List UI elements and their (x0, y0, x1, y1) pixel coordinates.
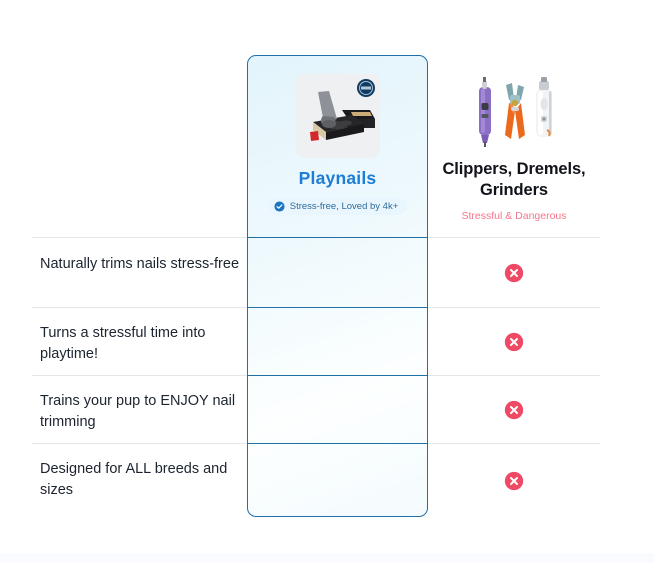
cell-competitors (428, 444, 600, 518)
red-x-circle-icon (504, 263, 524, 283)
playnails-title: Playnails (299, 168, 377, 189)
card-row-divider (247, 307, 428, 308)
feature-label: Trains your pup to ENJOY nail trimming (40, 391, 240, 433)
cell-competitors (428, 238, 600, 308)
card-row-divider (247, 443, 428, 444)
cell-competitors (428, 376, 600, 444)
playnails-product-image (296, 74, 380, 158)
playnails-badge-text: Stress-free, Loved by 4k+ (290, 201, 399, 212)
verified-check-icon (274, 201, 285, 212)
page-bottom-band (0, 553, 654, 563)
feature-label: Naturally trims nails stress-free (40, 254, 240, 275)
card-row-divider (247, 375, 428, 376)
red-x-circle-icon (504, 332, 524, 352)
red-x-circle-icon (504, 471, 524, 491)
feature-label: Turns a stressful time into playtime! (40, 323, 240, 365)
feature-label: Designed for ALL breeds and sizes (40, 459, 240, 501)
cell-competitors (428, 308, 600, 376)
playnails-badge: Stress-free, Loved by 4k+ (268, 198, 408, 215)
card-row-divider (247, 237, 428, 238)
comparison-table-page: Playnails Stress-free, Loved by 4k+ (0, 0, 654, 563)
column-header-playnails: Playnails Stress-free, Loved by 4k+ (247, 55, 428, 237)
red-x-circle-icon (504, 400, 524, 420)
